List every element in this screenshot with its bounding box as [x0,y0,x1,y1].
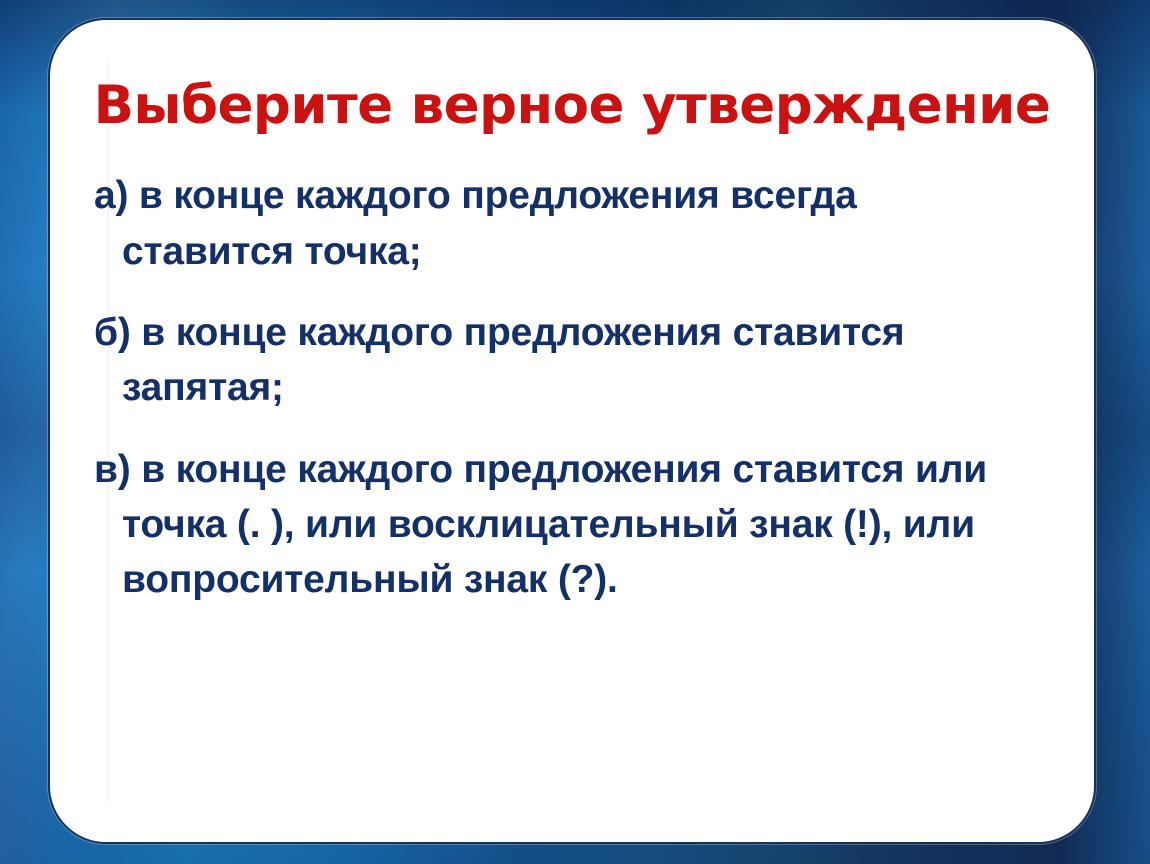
option-c[interactable]: в) в конце каждого предложения ставится … [88,442,1002,608]
option-b[interactable]: б) в конце каждого предложения ставится … [88,305,1002,416]
options-list: а) в конце каждого предложения всегда ст… [50,134,1094,608]
option-a[interactable]: а) в конце каждого предложения всегда ст… [88,168,1002,279]
content-card: Выберите верное утверждение а) в конце к… [48,18,1096,844]
slide-background: Выберите верное утверждение а) в конце к… [0,0,1150,864]
page-title: Выберите верное утверждение [50,20,1094,134]
